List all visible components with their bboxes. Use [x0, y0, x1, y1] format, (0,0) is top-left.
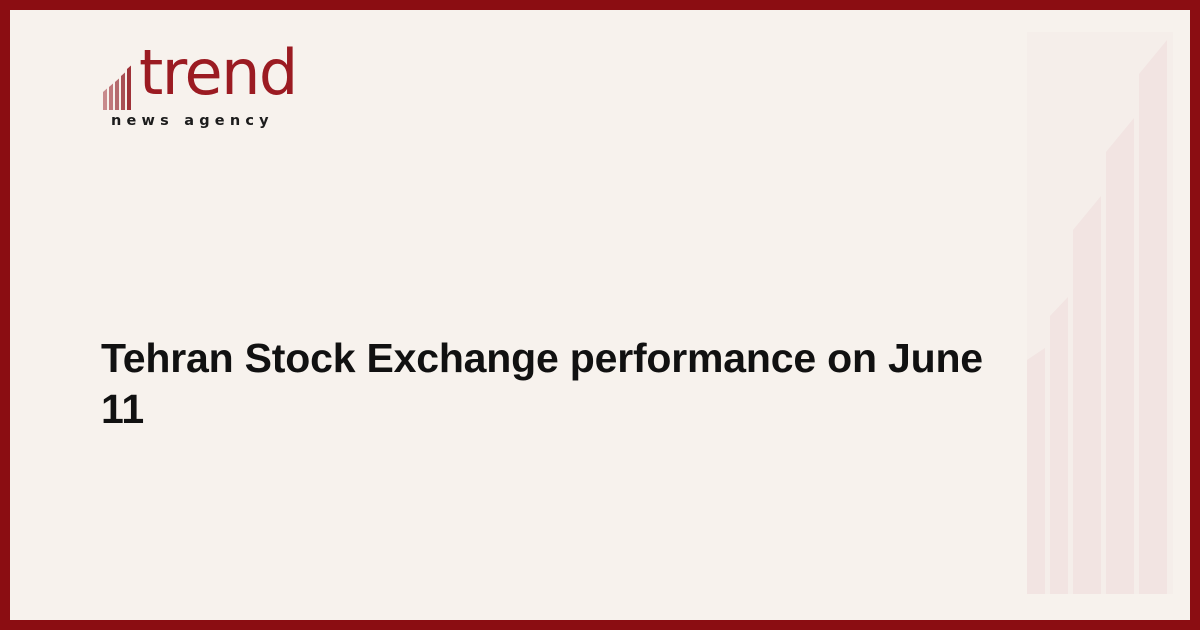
brand-tagline: news agency [111, 114, 274, 129]
ascending-bars-watermark [1000, 10, 1190, 630]
logo-mark-row: trend [101, 48, 361, 110]
social-share-card: trend news agency Tehran Stock Exchange … [0, 0, 1200, 630]
brand-logo[interactable]: trend news agency [101, 48, 361, 144]
page-title: Tehran Stock Exchange performance on Jun… [101, 333, 1001, 435]
brand-wordmark: trend [139, 42, 297, 104]
